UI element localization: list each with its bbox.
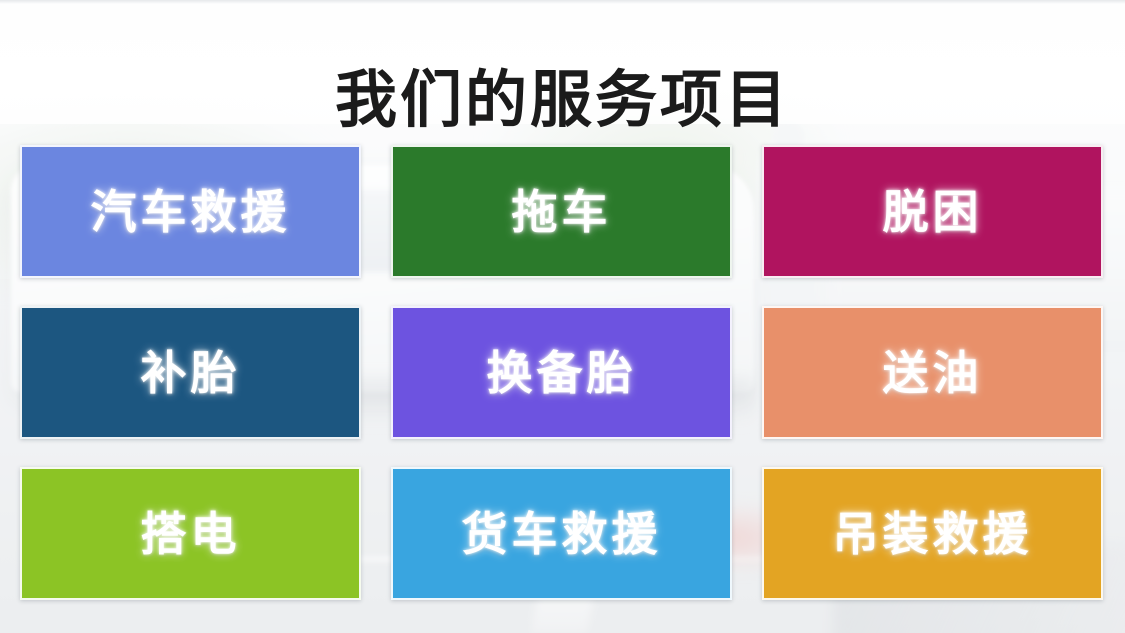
service-tile-label: 补胎 — [141, 347, 241, 399]
service-tile-label: 搭电 — [141, 508, 241, 560]
service-tile-extrication[interactable]: 脱困 — [762, 145, 1103, 278]
service-tile-label: 脱困 — [883, 186, 983, 238]
service-tile-grid: 汽车救援 拖车 脱困 补胎 换备胎 送油 搭电 货车救援 吊装救援 — [20, 145, 1103, 601]
page-title: 我们的服务项目 — [0, 64, 1125, 138]
service-tile-label: 拖车 — [512, 186, 612, 238]
service-tile-truck-rescue[interactable]: 货车救援 — [391, 467, 732, 600]
service-tile-crane-lifting-rescue[interactable]: 吊装救援 — [762, 467, 1103, 600]
service-tile-label: 汽车救援 — [91, 186, 291, 238]
service-tile-spare-tire-change[interactable]: 换备胎 — [391, 306, 732, 439]
service-poster: 我们的服务项目 汽车救援 拖车 脱困 补胎 换备胎 送油 搭电 货车救援 吊装救… — [0, 0, 1125, 633]
service-tile-label: 送油 — [883, 347, 983, 399]
service-tile-car-rescue[interactable]: 汽车救援 — [20, 145, 361, 278]
service-tile-towing[interactable]: 拖车 — [391, 145, 732, 278]
service-tile-label: 货车救援 — [462, 508, 662, 560]
service-tile-label: 换备胎 — [487, 347, 637, 399]
service-tile-fuel-delivery[interactable]: 送油 — [762, 306, 1103, 439]
top-edge-line — [0, 0, 1125, 4]
service-tile-label: 吊装救援 — [833, 508, 1033, 560]
service-tile-tire-repair[interactable]: 补胎 — [20, 306, 361, 439]
service-tile-jump-start[interactable]: 搭电 — [20, 467, 361, 600]
